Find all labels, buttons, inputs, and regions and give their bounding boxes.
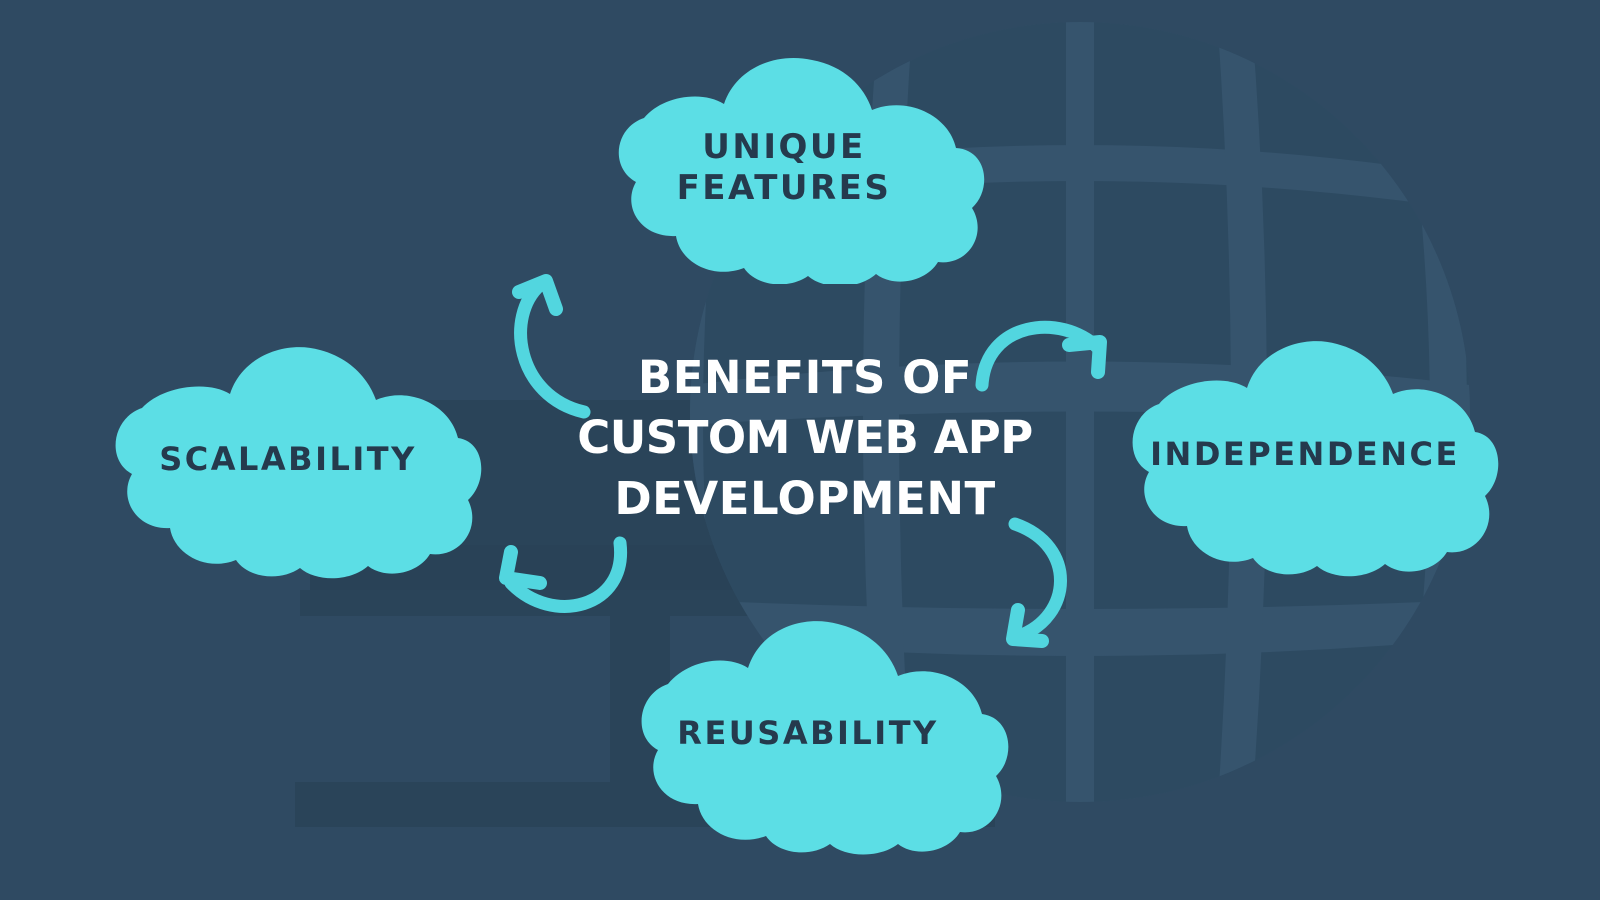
infographic-canvas: UNIQUE FEATURES SCALABILITY INDEPENDENCE… bbox=[0, 0, 1600, 900]
cloud-shape bbox=[576, 52, 992, 284]
cloud-node-reusability[interactable]: REUSABILITY bbox=[600, 612, 1016, 856]
cloud-node-scalability[interactable]: SCALABILITY bbox=[88, 338, 488, 582]
cloud-shape bbox=[600, 612, 1016, 856]
title-line-1: BENEFITS OF bbox=[555, 348, 1055, 408]
title-line-2: CUSTOM WEB APP bbox=[555, 408, 1055, 468]
title-line-3: DEVELOPMENT bbox=[555, 469, 1055, 529]
cloud-shape bbox=[88, 338, 488, 582]
page-title: BENEFITS OF CUSTOM WEB APP DEVELOPMENT bbox=[555, 348, 1055, 529]
cloud-node-independence[interactable]: INDEPENDENCE bbox=[1105, 330, 1505, 580]
curved-arrow-up-left-icon bbox=[506, 543, 621, 606]
cloud-node-unique-features[interactable]: UNIQUE FEATURES bbox=[576, 52, 992, 284]
cloud-shape bbox=[1105, 330, 1505, 580]
curved-arrow-down-left-icon bbox=[1013, 524, 1061, 641]
